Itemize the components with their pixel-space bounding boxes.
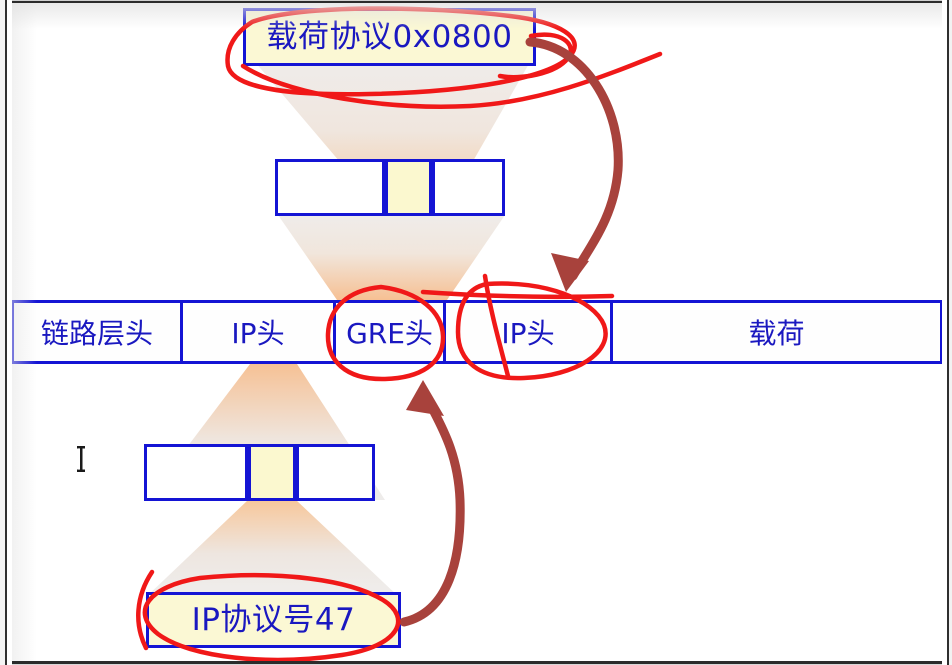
upper-strip-cell-1 [275,159,385,216]
slide-canvas: 载荷协议0x0800 链路层头 IP头 GRE头 IP头 载荷 IP协议号47 [0,0,952,665]
frame-left-edge [0,0,12,665]
packet-cell-outer-ip-header-text: IP头 [231,312,284,352]
packet-cell-payload-text: 载荷 [748,312,804,352]
ip-protocol-number-label-text: IP协议号47 [192,605,356,636]
upper-header-strip [275,159,505,216]
frame-bottom-edge [0,661,952,665]
packet-cell-inner-ip-header-text: IP头 [501,312,554,352]
packet-cell-gre-header-text: GRE头 [346,312,433,352]
packet-cell-payload[interactable]: 载荷 [613,303,940,361]
packet-cell-link-header-text: 链路层头 [41,312,153,352]
lower-header-strip [144,444,375,501]
payload-protocol-label-text: 载荷协议0x0800 [267,22,513,53]
payload-protocol-label[interactable]: 载荷协议0x0800 [243,8,536,66]
frame-right-edge [942,0,952,665]
packet-structure-bar: 链路层头 IP头 GRE头 IP头 载荷 [11,300,943,364]
lower-strip-cell-3 [296,444,375,501]
lower-strip-cell-highlight [248,444,296,501]
ip-protocol-number-label[interactable]: IP协议号47 [146,592,401,648]
packet-cell-outer-ip-header[interactable]: IP头 [183,303,336,361]
lower-strip-cell-1 [144,444,248,501]
upper-strip-cell-highlight [385,159,432,216]
packet-cell-link-header[interactable]: 链路层头 [14,303,183,361]
upper-strip-cell-3 [432,159,505,216]
packet-cell-gre-header[interactable]: GRE头 [336,303,446,361]
text-ibeam-cursor [73,444,89,474]
frame-top-edge [0,0,952,3]
packet-cell-inner-ip-header[interactable]: IP头 [446,303,613,361]
